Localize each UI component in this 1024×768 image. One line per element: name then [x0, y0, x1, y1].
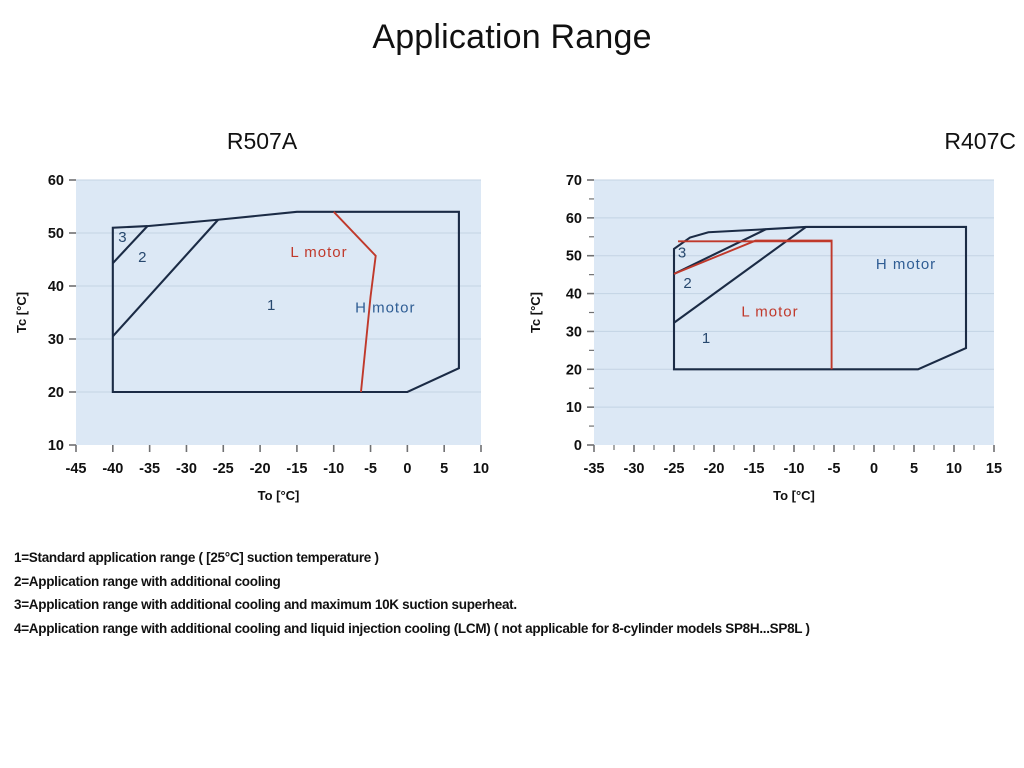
- x-axis-tick-label: -30: [176, 461, 197, 477]
- x-axis-tick-label: -25: [664, 461, 685, 477]
- x-axis-tick-label: 15: [986, 461, 1002, 477]
- y-axis-tick-label: 40: [566, 287, 582, 303]
- y-axis-tick-label: 50: [566, 249, 582, 265]
- x-axis-tick-label: 0: [403, 461, 411, 477]
- x-axis-tick-label: -15: [286, 461, 307, 477]
- y-axis-tick-label: 60: [48, 173, 64, 189]
- x-axis-tick-label: 5: [910, 461, 918, 477]
- annotation-3: 3: [678, 245, 686, 262]
- x-axis-tick-label: 5: [440, 461, 448, 477]
- annotation-h-motor: H motor: [355, 300, 415, 317]
- slide-root: Application Range R507A 102030405060-45-…: [0, 0, 1024, 768]
- y-axis-tick-label: 40: [48, 279, 64, 295]
- x-axis-tick-label: -5: [828, 461, 841, 477]
- y-axis-tick-label: 0: [574, 438, 582, 454]
- x-axis-tick-label: -25: [213, 461, 234, 477]
- annotation-1: 1: [702, 330, 710, 347]
- y-axis-tick-label: 10: [48, 438, 64, 454]
- annotation-l-motor: L motor: [290, 244, 347, 261]
- x-axis-tick-label: -10: [323, 461, 344, 477]
- y-axis-tick-label: 50: [48, 226, 64, 242]
- x-axis-title: To [°C]: [258, 488, 300, 503]
- x-axis-tick-label: 10: [473, 461, 489, 477]
- x-axis-tick-label: -10: [784, 461, 805, 477]
- x-axis-tick-label: 10: [946, 461, 962, 477]
- x-axis-tick-label: -15: [744, 461, 765, 477]
- y-axis-tick-label: 20: [48, 385, 64, 401]
- x-axis-tick-label: -30: [624, 461, 645, 477]
- x-axis-tick-label: -40: [102, 461, 123, 477]
- x-axis-tick-label: -5: [364, 461, 377, 477]
- annotation-2: 2: [683, 275, 691, 292]
- annotation-l-motor: L motor: [741, 303, 798, 320]
- annotation-3: 3: [118, 229, 126, 246]
- y-axis-title: Tc [°C]: [14, 292, 29, 333]
- y-axis-tick-label: 10: [566, 400, 582, 416]
- plot-area-r507a: 102030405060-45-40-35-30-25-20-15-10-505…: [8, 128, 516, 508]
- annotation-2: 2: [138, 249, 146, 266]
- legend-line-4: 4=Application range with additional cool…: [14, 617, 1004, 641]
- y-axis-title: Tc [°C]: [528, 292, 543, 333]
- legend-block: 1=Standard application range ( [25°C] su…: [14, 546, 1004, 640]
- x-axis-title: To [°C]: [773, 488, 815, 503]
- x-axis-tick-label: -35: [139, 461, 160, 477]
- annotation-h-motor: H motor: [876, 256, 936, 273]
- page-title: Application Range: [0, 18, 1024, 57]
- y-axis-tick-label: 20: [566, 362, 582, 378]
- legend-line-3: 3=Application range with additional cool…: [14, 593, 1004, 617]
- plot-background: [76, 180, 481, 445]
- x-axis-tick-label: -35: [584, 461, 605, 477]
- legend-line-1: 1=Standard application range ( [25°C] su…: [14, 546, 1004, 570]
- y-axis-tick-label: 30: [48, 332, 64, 348]
- x-axis-tick-label: -20: [704, 461, 725, 477]
- y-axis-tick-label: 60: [566, 211, 582, 227]
- annotation-1: 1: [267, 297, 275, 314]
- y-axis-tick-label: 30: [566, 324, 582, 340]
- y-axis-tick-label: 70: [566, 173, 582, 189]
- x-axis-tick-label: -45: [66, 461, 87, 477]
- legend-line-2: 2=Application range with additional cool…: [14, 570, 1004, 594]
- x-axis-tick-label: -20: [250, 461, 271, 477]
- plot-area-r407c: 010203040506070-35-30-25-20-15-10-505101…: [516, 128, 1024, 508]
- x-axis-tick-label: 0: [870, 461, 878, 477]
